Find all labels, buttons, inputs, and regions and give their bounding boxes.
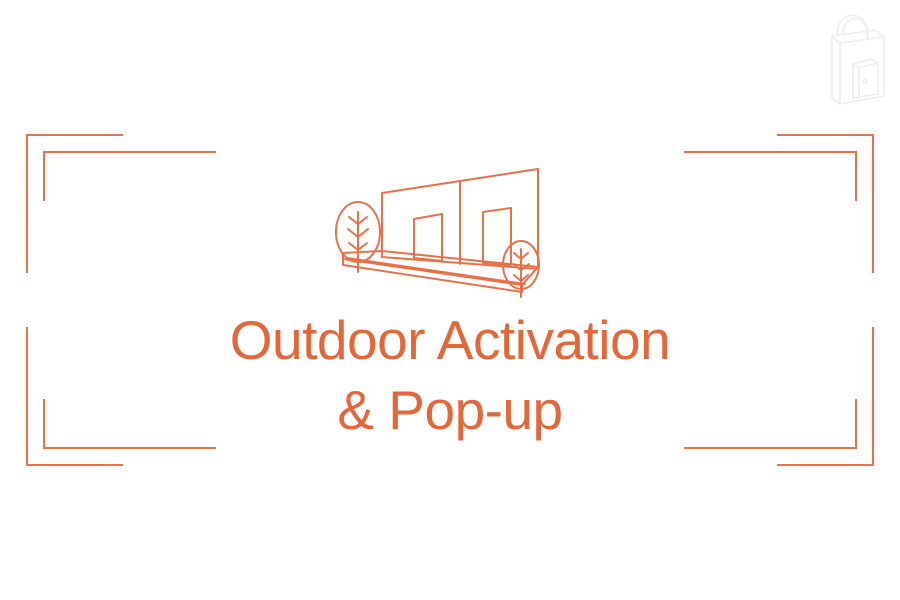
decorative-frame xyxy=(0,0,900,600)
platform-deck xyxy=(343,251,538,292)
title-line-1: Outdoor Activation xyxy=(0,305,900,375)
shopping-bag-watermark xyxy=(812,8,892,108)
doorway-right xyxy=(483,208,511,265)
page-title: Outdoor Activation & Pop-up xyxy=(0,305,900,445)
outdoor-storefront-illustration xyxy=(325,155,575,300)
slide-canvas: Outdoor Activation & Pop-up xyxy=(0,0,900,600)
shopping-bag-icon xyxy=(812,8,892,108)
title-line-2: & Pop-up xyxy=(0,375,900,445)
